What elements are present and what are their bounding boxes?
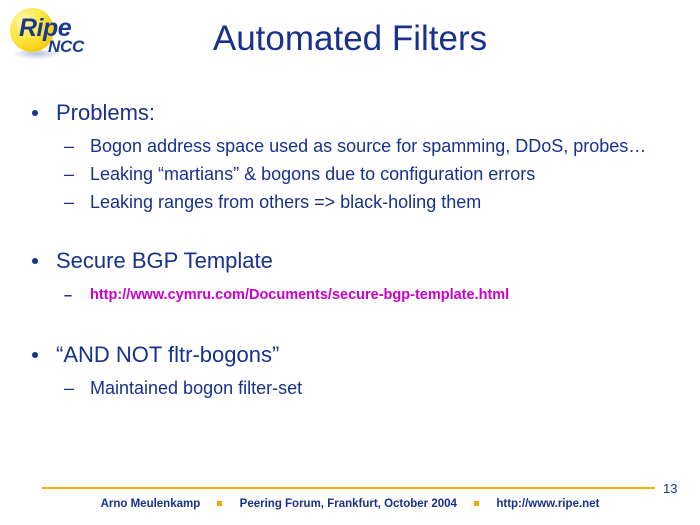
- bullet-level2-maintained-bogon-filter-set: – Maintained bogon filter-set: [28, 378, 678, 400]
- spacer: [28, 368, 678, 378]
- footer-event: Peering Forum, Frankfurt, October 2004: [240, 498, 457, 510]
- footer-divider: [42, 487, 655, 489]
- hyperlink-label[interactable]: http://www.cymru.com/Documents/secure-bg…: [90, 287, 509, 303]
- dash-marker-icon: –: [64, 192, 74, 214]
- bullet-level1-label: “AND NOT fltr-bogons”: [56, 342, 279, 367]
- footer-separator-icon: [474, 501, 479, 506]
- dash-marker-icon: –: [64, 287, 72, 305]
- footer-author: Arno Meulenkamp: [101, 498, 201, 510]
- bullet-level2-leaking-ranges: – Leaking ranges from others => black-ho…: [28, 192, 678, 214]
- page-number: 13: [663, 481, 677, 496]
- footer-bar: Arno Meulenkamp Peering Forum, Frankfurt…: [0, 498, 700, 510]
- bullet-level2-bogon-source: – Bogon address space used as source for…: [28, 136, 678, 158]
- bullet-dot-icon: [32, 352, 38, 358]
- spacer: [28, 214, 678, 248]
- bullet-level1-problems: Problems:: [28, 100, 678, 126]
- dash-marker-icon: –: [64, 378, 74, 400]
- slide-body: Problems: – Bogon address space used as …: [28, 100, 678, 400]
- bullet-level2-label: Maintained bogon filter-set: [90, 378, 302, 398]
- footer-url[interactable]: http://www.ripe.net: [496, 498, 599, 510]
- spacer: [28, 304, 678, 342]
- bullet-group-secure-bgp-template: Secure BGP Template – http://www.cymru.c…: [28, 248, 678, 304]
- bullet-dot-icon: [32, 258, 38, 264]
- spacer: [28, 126, 678, 136]
- bullet-level1-secure-bgp-template: Secure BGP Template: [28, 248, 678, 274]
- bullet-level1-and-not-fltr-bogons: “AND NOT fltr-bogons”: [28, 342, 678, 368]
- slide-canvas: Ripe NCC Automated Filters Problems: – B…: [0, 0, 700, 525]
- bullet-group-and-not-fltr-bogons: “AND NOT fltr-bogons” – Maintained bogon…: [28, 342, 678, 400]
- slide-title: Automated Filters: [0, 20, 700, 59]
- bullet-level2-label: Leaking “martians” & bogons due to confi…: [90, 164, 535, 184]
- bullet-level1-label: Secure BGP Template: [56, 248, 273, 273]
- bullet-level1-label: Problems:: [56, 100, 155, 125]
- spacer: [28, 274, 678, 286]
- bullet-dot-icon: [32, 110, 38, 116]
- dash-marker-icon: –: [64, 136, 74, 158]
- bullet-group-problems: Problems: – Bogon address space used as …: [28, 100, 678, 214]
- dash-marker-icon: –: [64, 164, 74, 186]
- footer-separator-icon: [217, 501, 222, 506]
- bullet-level2-label: Leaking ranges from others => black-holi…: [90, 192, 481, 212]
- bullet-level2-label: Bogon address space used as source for s…: [90, 136, 646, 156]
- hyperlink-secure-bgp-template[interactable]: – http://www.cymru.com/Documents/secure-…: [28, 286, 678, 304]
- bullet-level2-leaking-martians: – Leaking “martians” & bogons due to con…: [28, 164, 678, 186]
